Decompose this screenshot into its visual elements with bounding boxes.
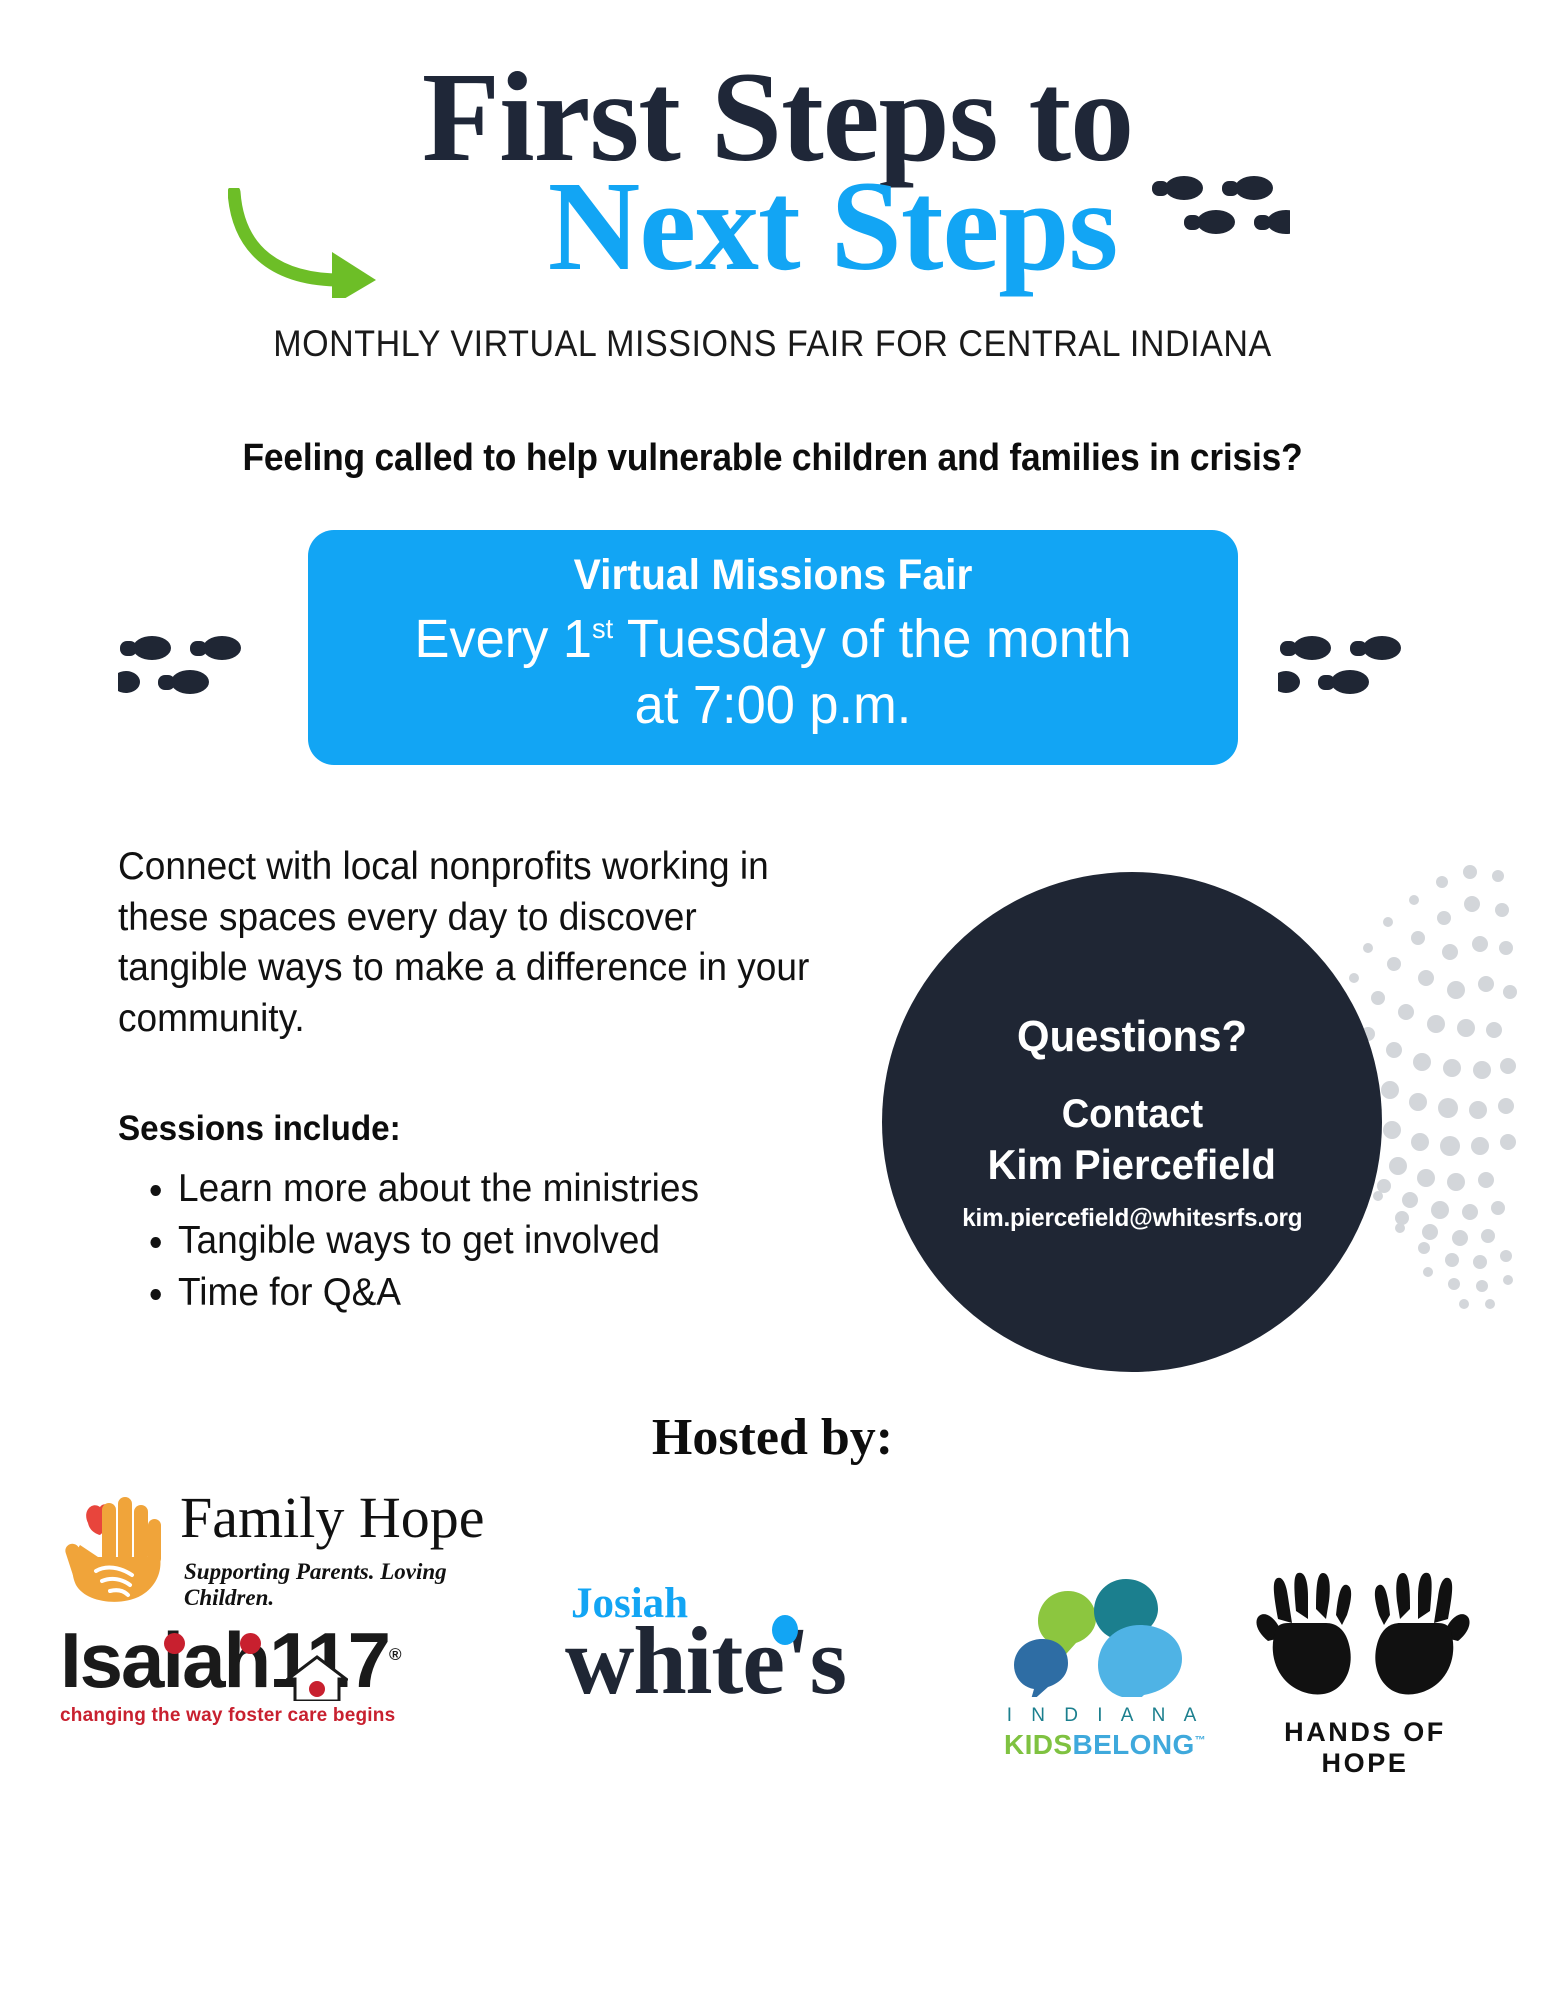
family-hope-name: Family Hope bbox=[180, 1489, 484, 1547]
footprints-icon-right bbox=[1278, 628, 1418, 698]
flyer-header: First Steps to Next Steps MONTHLY VIRTUA… bbox=[0, 0, 1545, 365]
hosted-by-label: Hosted by: bbox=[0, 1408, 1545, 1467]
ikb-indiana-text: I N D I A N A bbox=[990, 1705, 1220, 1727]
ikb-kids-belong-text: KIDSBELONG™ bbox=[990, 1729, 1220, 1761]
logo-family-hope: Family Hope Supporting Parents. Loving C… bbox=[62, 1487, 512, 1607]
logo-indiana-kids-belong: I N D I A N A KIDSBELONG™ bbox=[990, 1577, 1220, 1767]
contact-email[interactable]: kim.piercefield@whitesrfs.org bbox=[962, 1204, 1302, 1233]
list-item: Time for Q&A bbox=[178, 1267, 824, 1319]
contact-heading: Questions? bbox=[1017, 1011, 1247, 1064]
event-box-title: Virtual Missions Fair bbox=[356, 548, 1190, 603]
logo-hands-of-hope: HANDS OF HOPE bbox=[1240, 1567, 1490, 1767]
two-hands-icon bbox=[1248, 1567, 1478, 1707]
hand-with-heart-icon bbox=[62, 1487, 172, 1605]
logo-isaiah-117: Isaiah117® changing the way foster care … bbox=[60, 1621, 520, 1741]
isaiah-tagline: changing the way foster care begins bbox=[60, 1705, 520, 1727]
flyer-page: First Steps to Next Steps MONTHLY VIRTUA… bbox=[0, 0, 1545, 2000]
event-box-schedule: Every 1st Tuesday of the month at 7:00 p… bbox=[347, 607, 1199, 739]
house-icon bbox=[286, 1655, 348, 1701]
event-box: Virtual Missions Fair Every 1st Tuesday … bbox=[308, 530, 1238, 765]
body-paragraph: Connect with local nonprofits working in… bbox=[118, 842, 821, 1045]
sponsor-logos: Family Hope Supporting Parents. Loving C… bbox=[0, 1479, 1545, 1779]
hands-of-hope-text: HANDS OF HOPE bbox=[1240, 1717, 1490, 1779]
sessions-label: Sessions include: bbox=[118, 1109, 821, 1149]
hook-line: Feeling called to help vulnerable childr… bbox=[54, 437, 1491, 480]
event-schedule-ordinal: st bbox=[592, 613, 613, 644]
isaiah-part-1: Isaia bbox=[60, 1616, 223, 1704]
isaiah-dot-i1 bbox=[164, 1633, 185, 1654]
footprints-icon-left bbox=[118, 628, 258, 698]
ikb-belong-word: BELONG bbox=[1072, 1729, 1194, 1760]
whites-word: white's bbox=[565, 1605, 846, 1716]
event-schedule-suffix: Tuesday of the month bbox=[613, 609, 1131, 669]
isaiah-registered-mark: ® bbox=[389, 1645, 400, 1664]
list-item: Tangible ways to get involved bbox=[178, 1215, 824, 1267]
event-schedule-time: at 7:00 p.m. bbox=[347, 673, 1199, 739]
contact-label: Contact bbox=[1061, 1090, 1202, 1139]
event-box-row: Virtual Missions Fair Every 1st Tuesday … bbox=[0, 530, 1545, 800]
isaiah-part-2: h bbox=[223, 1616, 269, 1704]
ikb-trademark: ™ bbox=[1195, 1735, 1206, 1747]
contact-circle: Questions? Contact Kim Piercefield kim.p… bbox=[882, 872, 1382, 1372]
flyer-subtitle: MONTHLY VIRTUAL MISSIONS FAIR FOR CENTRA… bbox=[62, 323, 1483, 365]
title-line-2: Next Steps bbox=[0, 161, 1545, 292]
logo-josiah-whites: Josiah white's bbox=[565, 1579, 965, 1719]
event-schedule-prefix: Every 1 bbox=[414, 609, 592, 669]
contact-name: Kim Piercefield bbox=[988, 1139, 1276, 1190]
list-item: Learn more about the ministries bbox=[178, 1163, 824, 1215]
ikb-kids-word: KIDS bbox=[1004, 1729, 1073, 1760]
josiah-blue-dot-icon bbox=[772, 1615, 798, 1645]
isaiah-dot-i2 bbox=[240, 1633, 261, 1654]
isaiah-wordmark: Isaiah117® bbox=[60, 1621, 400, 1699]
people-speech-bubbles-icon bbox=[1008, 1577, 1198, 1697]
body-copy: Connect with local nonprofits working in… bbox=[118, 842, 858, 1318]
family-hope-tagline: Supporting Parents. Loving Children. bbox=[184, 1559, 512, 1611]
main-content: Connect with local nonprofits working in… bbox=[0, 842, 1545, 1402]
sessions-list: Learn more about the ministries Tangible… bbox=[118, 1163, 858, 1319]
